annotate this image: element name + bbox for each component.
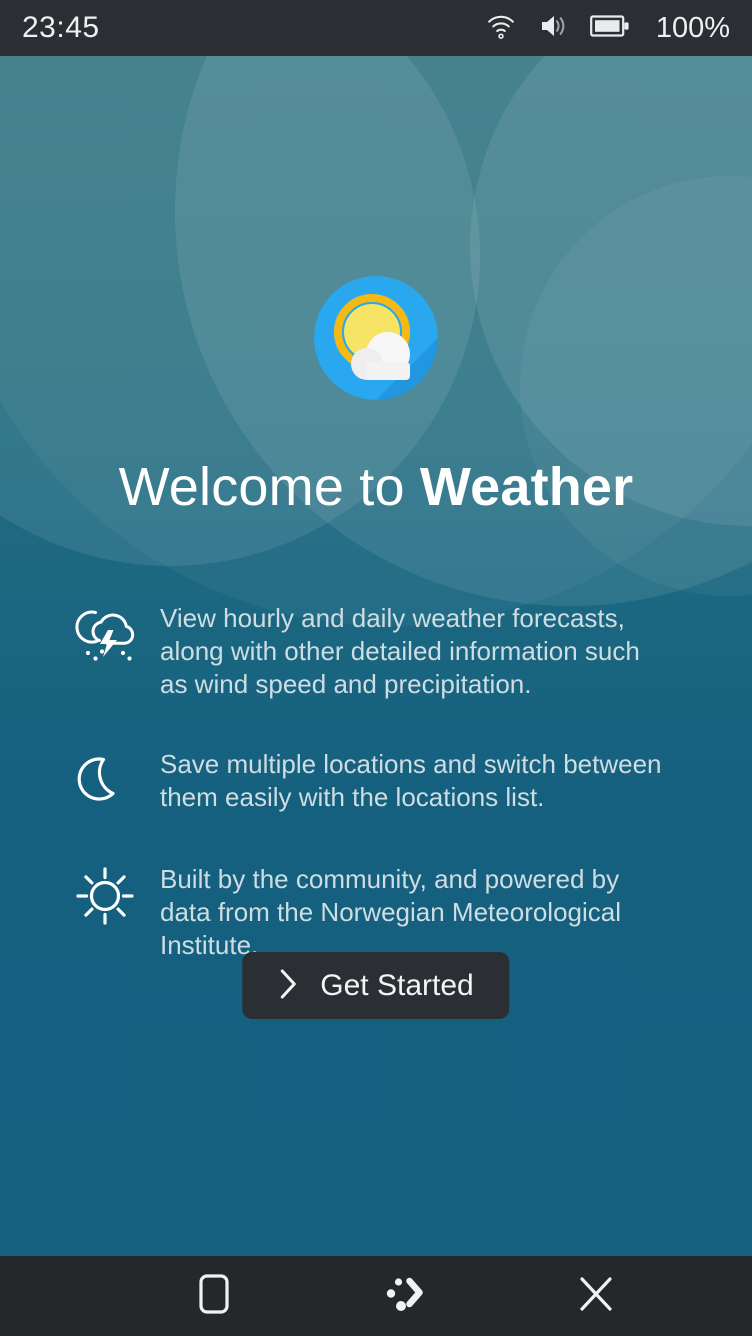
feature-row-locations: Save multiple locations and switch betwe… (72, 748, 684, 816)
feature-text-community: Built by the community, and powered by d… (160, 863, 670, 962)
battery-icon (590, 13, 630, 44)
phone-screen: 23:45 (0, 0, 752, 1336)
page-title-prefix: Welcome to (119, 457, 420, 517)
status-indicators: 100% (486, 12, 730, 45)
moon-icon (72, 750, 138, 816)
close-button[interactable] (501, 1256, 692, 1336)
page-title: Welcome to Weather (0, 456, 752, 518)
volume-icon (538, 12, 568, 45)
home-button[interactable] (118, 1256, 309, 1336)
bottom-nav-bar (0, 1256, 752, 1336)
welcome-content: Welcome to Weather (0, 56, 752, 1256)
switcher-button[interactable] (309, 1256, 500, 1336)
battery-percent-label: 100% (656, 12, 730, 45)
feature-list: View hourly and daily weather forecasts,… (72, 602, 684, 1009)
sun-icon (72, 865, 138, 931)
status-bar: 23:45 (0, 0, 752, 56)
page-title-strong: Weather (420, 457, 633, 517)
chevron-right-icon (278, 968, 298, 1003)
feature-text-forecasts: View hourly and daily weather forecasts,… (160, 602, 670, 701)
storm-night-icon (72, 604, 138, 670)
wifi-icon (486, 12, 516, 45)
get-started-label: Get Started (320, 969, 473, 1003)
dots-chevron-icon (381, 1271, 429, 1322)
get-started-button[interactable]: Get Started (242, 952, 509, 1019)
close-x-icon (575, 1272, 617, 1321)
rounded-square-icon (196, 1271, 232, 1322)
weather-app-icon (314, 276, 438, 400)
status-clock: 23:45 (22, 11, 100, 45)
feature-text-locations: Save multiple locations and switch betwe… (160, 748, 670, 814)
feature-row-community: Built by the community, and powered by d… (72, 863, 684, 962)
feature-row-forecasts: View hourly and daily weather forecasts,… (72, 602, 684, 701)
